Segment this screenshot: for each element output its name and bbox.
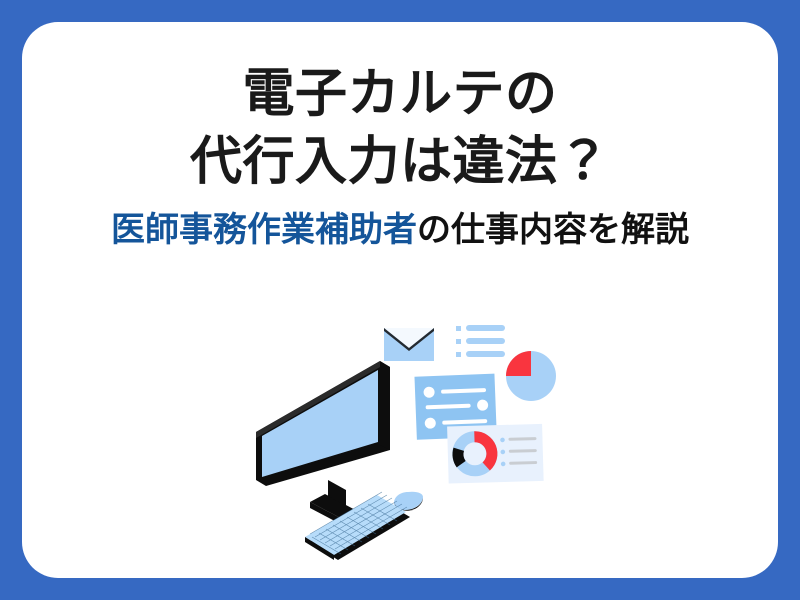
page-subtitle: 医師事務作業補助者の仕事内容を解説: [22, 208, 778, 252]
subtitle-highlight-text: 医師事務作業補助者: [111, 211, 417, 249]
white-rounded-card: 電子カルテの 代行入力は違法？ 医師事務作業補助者の仕事内容を解説: [22, 22, 778, 578]
isometric-workstation-illustration: [250, 290, 580, 578]
illustration-svg: [250, 290, 580, 578]
headline-block: 電子カルテの 代行入力は違法？ 医師事務作業補助者の仕事内容を解説: [22, 60, 778, 252]
eyecatch-canvas: 電子カルテの 代行入力は違法？ 医師事務作業補助者の仕事内容を解説: [0, 0, 800, 600]
page-title-line-2: 代行入力は違法？: [22, 128, 778, 196]
pie-chart: [506, 351, 556, 401]
bullet-list-card: [456, 325, 505, 357]
page-title-line-1: 電子カルテの: [22, 60, 778, 128]
envelope-icon: [384, 328, 434, 361]
donut-chart-card: [447, 424, 544, 484]
subtitle-rest-text: の仕事内容を解説: [417, 211, 689, 249]
